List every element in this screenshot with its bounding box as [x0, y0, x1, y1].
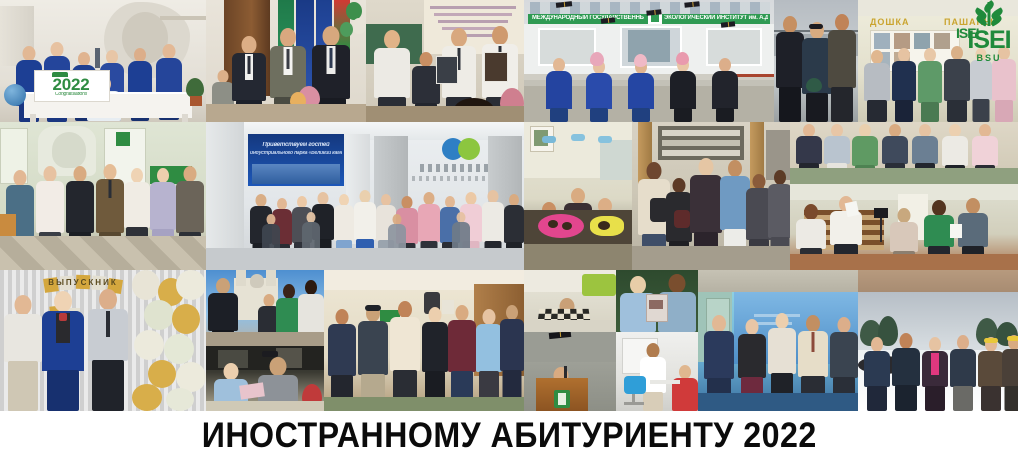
collage-cell-chess-club	[524, 270, 616, 332]
collage-cell-sports-hall	[790, 184, 1018, 270]
collage-cell-laboratory-class	[524, 122, 632, 270]
collage-cell-convocation-speech	[524, 332, 616, 411]
collage-cell-delegation-meeting	[0, 122, 206, 270]
collage-cell-certificate-handover	[206, 346, 324, 411]
collage-cell-institute-building: МЕЖДУНАРОДНЫЙ ГОСУДАРСТВЕННЫЙ ЭКОЛОГИЧЕС…	[524, 0, 774, 122]
collage-cell-students-with-flags	[206, 0, 366, 122]
poster-caption-bar: ИНОСТРАННОМУ АБИТУРИЕНТУ 2022	[0, 411, 1018, 460]
collage-cell-group-in-corridor	[324, 270, 524, 411]
isei-logo-sub: BSU	[962, 54, 1016, 63]
collage-cell-library-group	[632, 122, 790, 270]
collage-cell-winter-outing	[858, 292, 1018, 411]
isei-logo: ISEI BSU	[962, 2, 1016, 63]
poster-caption-text: ИНОСТРАННОМУ АБИТУРИЕНТУ 2022	[201, 418, 816, 453]
poster-page: 2022 Congratulations	[0, 0, 1018, 460]
collage-cell-filler-left	[698, 270, 858, 292]
photo-sign-congratulations: Congratulations	[38, 92, 104, 97]
photo-collage: 2022 Congratulations	[0, 0, 1018, 411]
collage-cell-city-excursion	[206, 270, 324, 346]
collage-cell-conference-panel	[698, 292, 858, 411]
collage-cell-graduate-banner: ВЫПУСКНИК	[0, 270, 206, 411]
photo-sign-institute-line1: МЕЖДУНАРОДНЫЙ ГОСУДАРСТВЕННЫЙ	[532, 15, 644, 21]
collage-cell-medical-lab	[616, 332, 698, 411]
photo-sign-2022: 2022	[38, 76, 104, 93]
photo-sign-honour-board-1: ДОШКА	[870, 18, 930, 27]
photo-banner-graduate: ВЫПУСКНИК	[40, 279, 126, 287]
collage-cell-graduation-ceremony: 2022 Congratulations	[0, 0, 206, 122]
photo-screen-title: Приветствуем гостей	[252, 142, 340, 148]
collage-cell-corridor-group	[790, 122, 1018, 184]
collage-cell-students-outdoors	[774, 0, 858, 122]
isei-logo-text: ISEI	[962, 28, 1016, 53]
photo-screen-subtitle: индустриального парка «Великий камень»	[250, 151, 342, 156]
photo-sign-institute-line2: ЭКОЛОГИЧЕСКИЙ ИНСТИТУТ им. А.Д. САХАРОВА	[664, 15, 768, 21]
collage-cell-filler-right	[858, 270, 1018, 292]
collage-cell-diploma-presentation	[616, 270, 698, 332]
collage-cell-honour-board: ДОШКА ПАШАНЫ ISEI	[858, 0, 1018, 122]
collage-cell-great-stone-park-visit: Приветствуем гостей индустриального парк…	[206, 122, 524, 270]
collage-cell-award-ceremony	[366, 0, 524, 122]
